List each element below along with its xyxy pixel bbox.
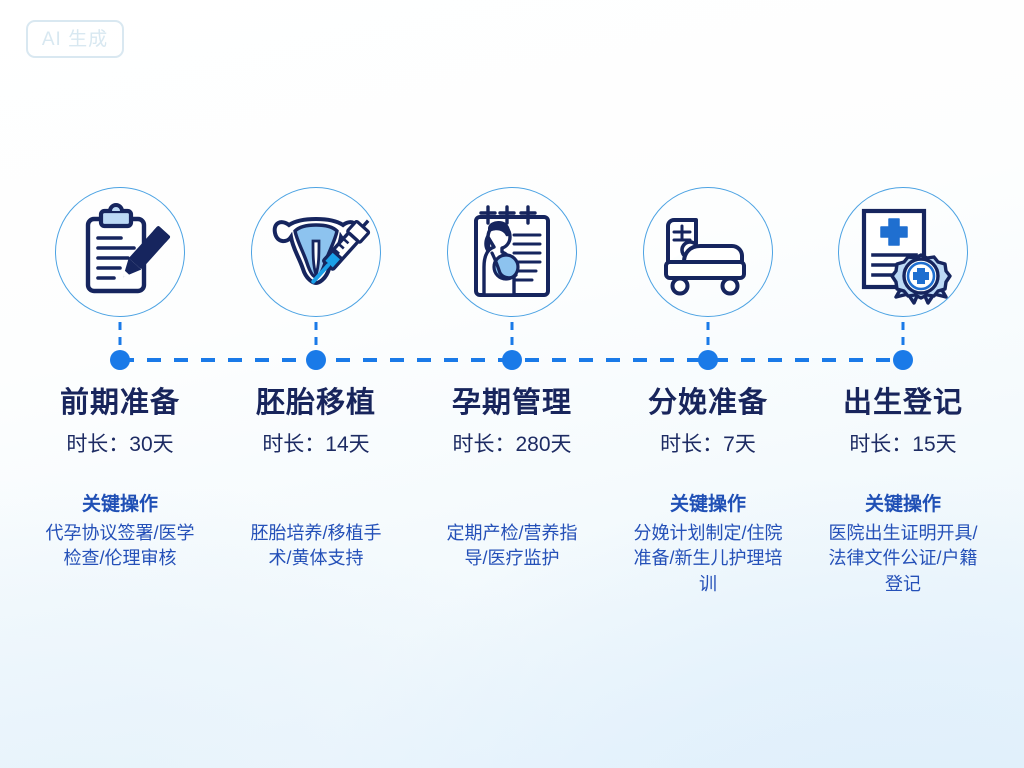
hospital-bed-icon	[660, 210, 756, 294]
stage-duration-2: 时长：14天	[216, 432, 416, 457]
ai-generated-watermark: AI 生成	[26, 20, 124, 58]
stage-column-3: 孕期管理 时长：280天 关键操作 定期产检/营养指导/医疗监护	[412, 388, 612, 572]
watermark-label: AI 生成	[42, 30, 108, 49]
stage-ops-heading-4: 关键操作	[608, 493, 808, 517]
stage-column-4: 分娩准备 时长：7天 关键操作 分娩计划制定/住院准备/新生儿护理培训	[608, 388, 808, 597]
birth-certificate-seal-icon	[856, 205, 950, 299]
stage-column-5: 出生登记 时长：15天 关键操作 医院出生证明开具/法律文件公证/户籍登记	[803, 388, 1003, 597]
stage-title-4: 分娩准备	[608, 388, 808, 420]
stage-icon-circle-3[interactable]	[447, 187, 577, 317]
stage-ops-block-1: 关键操作 代孕协议签署/医学检查/伦理审核	[20, 493, 220, 572]
stage-title-5: 出生登记	[803, 388, 1003, 420]
stage-ops-block-5: 关键操作 医院出生证明开具/法律文件公证/户籍登记	[803, 493, 1003, 597]
stage-column-2: 胚胎移植 时长：14天 关键操作 胚胎培养/移植手术/黄体支持	[216, 388, 416, 572]
stage-icon-circle-5[interactable]	[838, 187, 968, 317]
timeline-node-dot-5[interactable]	[893, 350, 913, 370]
timeline-node-dot-3[interactable]	[502, 350, 522, 370]
stage-icon-circle-2[interactable]	[251, 187, 381, 317]
infographic-canvas: AI 生成	[0, 0, 1024, 768]
clipboard-pencil-icon	[74, 206, 166, 298]
stage-duration-4: 时长：7天	[608, 432, 808, 457]
stage-ops-heading-5: 关键操作	[803, 493, 1003, 517]
pregnant-woman-chart-icon	[466, 205, 558, 299]
timeline-node-dot-1[interactable]	[110, 350, 130, 370]
stage-ops-detail-1: 代孕协议签署/医学检查/伦理审核	[45, 521, 195, 572]
stage-ops-block-3: 关键操作 定期产检/营养指导/医疗监护	[412, 493, 612, 572]
stage-title-1: 前期准备	[20, 388, 220, 420]
stage-icon-circle-1[interactable]	[55, 187, 185, 317]
stage-icon-circle-4[interactable]	[643, 187, 773, 317]
stage-ops-detail-5: 医院出生证明开具/法律文件公证/户籍登记	[828, 521, 978, 598]
stage-ops-block-2: 关键操作 胚胎培养/移植手术/黄体支持	[216, 493, 416, 572]
stage-duration-5: 时长：15天	[803, 432, 1003, 457]
stage-ops-detail-4: 分娩计划制定/住院准备/新生儿护理培训	[633, 521, 783, 598]
stage-ops-detail-2: 胚胎培养/移植手术/黄体支持	[241, 521, 391, 572]
stage-duration-1: 时长：30天	[20, 432, 220, 457]
stage-ops-heading-1: 关键操作	[20, 493, 220, 517]
stage-title-3: 孕期管理	[412, 388, 612, 420]
timeline-node-dot-2[interactable]	[306, 350, 326, 370]
stage-ops-block-4: 关键操作 分娩计划制定/住院准备/新生儿护理培训	[608, 493, 808, 597]
uterus-syringe-icon	[269, 207, 363, 297]
stage-duration-3: 时长：280天	[412, 432, 612, 457]
stage-column-1: 前期准备 时长：30天 关键操作 代孕协议签署/医学检查/伦理审核	[20, 388, 220, 572]
timeline-node-dot-4[interactable]	[698, 350, 718, 370]
stage-title-2: 胚胎移植	[216, 388, 416, 420]
stage-ops-detail-3: 定期产检/营养指导/医疗监护	[437, 521, 587, 572]
